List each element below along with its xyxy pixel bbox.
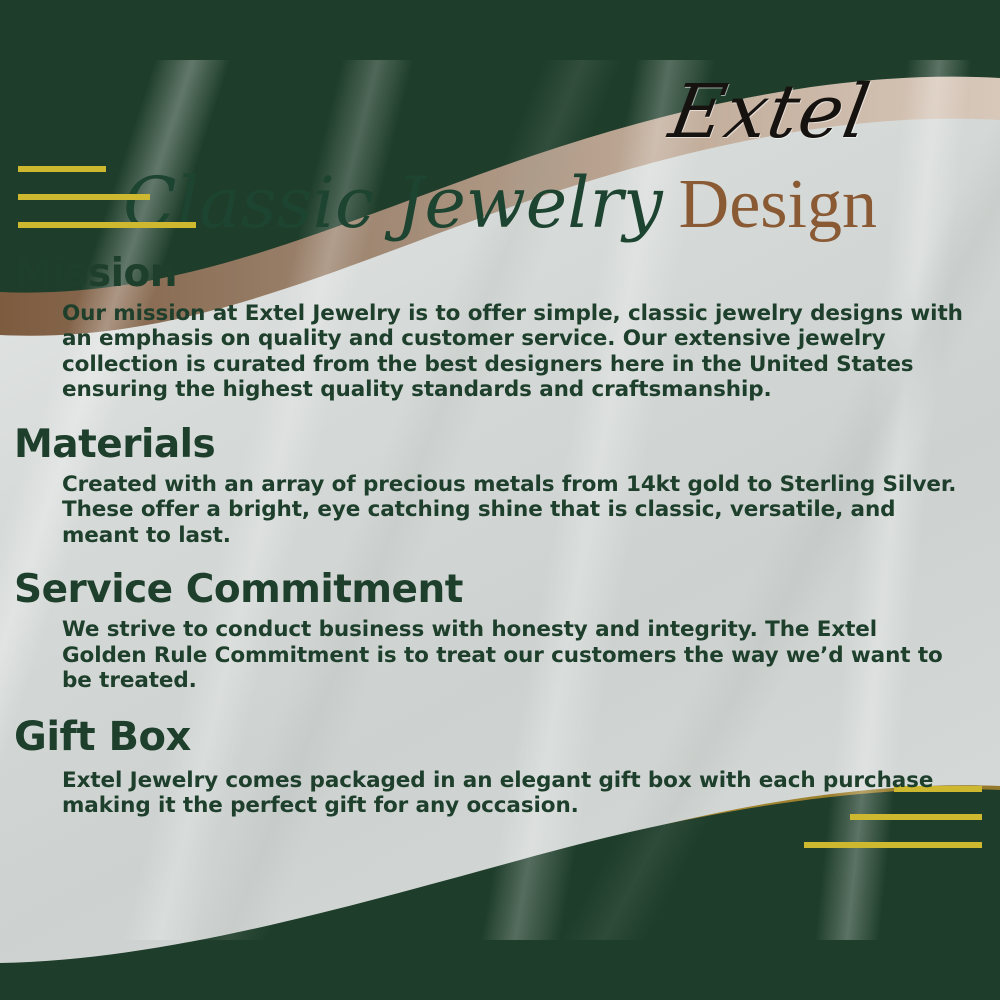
- rule-line: [18, 166, 106, 172]
- rule-line: [18, 194, 150, 200]
- rule-line: [804, 842, 982, 848]
- section-body-service-commitment: We strive to conduct business with hones…: [62, 617, 966, 694]
- section-body-mission: Our mission at Extel Jewelry is to offer…: [62, 301, 966, 403]
- section-heading-gift-box: Gift Box: [14, 716, 1000, 758]
- section-heading-mission: Mission: [14, 254, 1000, 295]
- section-gift-box: Gift Box Extel Jewelry comes packaged in…: [0, 716, 1000, 819]
- section-materials: Materials Created with an array of preci…: [0, 425, 1000, 548]
- section-body-materials: Created with an array of precious metals…: [62, 472, 966, 549]
- rule-line: [18, 222, 196, 228]
- section-heading-materials: Materials: [14, 425, 1000, 466]
- section-mission: Mission Our mission at Extel Jewelry is …: [0, 254, 1000, 403]
- section-body-gift-box: Extel Jewelry comes packaged in an elega…: [62, 768, 966, 819]
- section-service-commitment: Service Commitment We strive to conduct …: [0, 570, 1000, 693]
- poster-canvas: Extel Classic JewelryDesign Mission Our …: [0, 0, 1000, 1000]
- title-script-part: Classic Jewelry: [123, 162, 663, 244]
- decorative-rules-top-left: [18, 166, 196, 250]
- section-heading-service-commitment: Service Commitment: [14, 570, 1000, 611]
- title-serif-part: Design: [679, 166, 877, 243]
- content-sections: Mission Our mission at Extel Jewelry is …: [0, 254, 1000, 841]
- brand-wordmark: Extel: [603, 72, 937, 152]
